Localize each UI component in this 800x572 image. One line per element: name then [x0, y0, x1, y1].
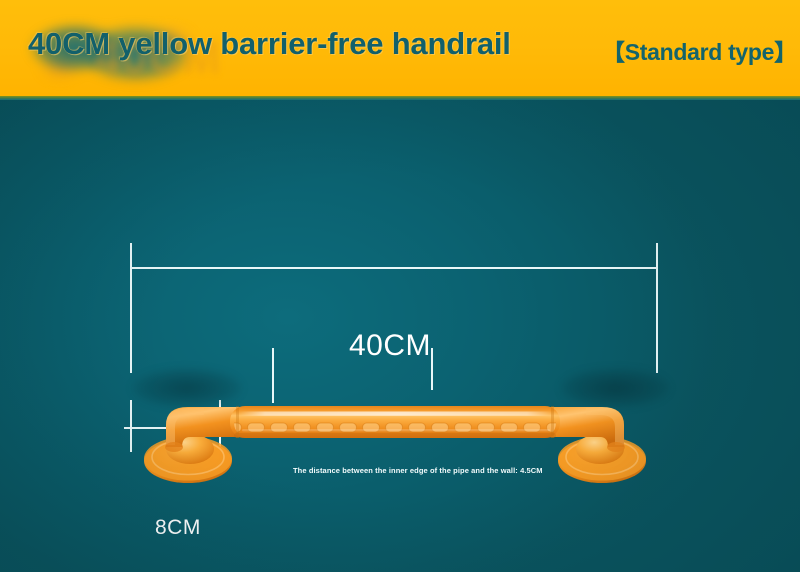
header-banner: 40CM 40CM yellow barrier-free handrail 【…	[0, 0, 800, 96]
clearance-callout-tick-right	[431, 348, 433, 390]
product-image: 40CM 40CM yellow barrier-free handrail 【…	[0, 0, 800, 572]
product-photo-stage: 40CM 8CM The distance between the inner …	[0, 100, 800, 572]
dimension-label-depth: 8CM	[155, 516, 201, 540]
handrail-product	[130, 385, 660, 500]
dimension-label-length: 40CM	[349, 329, 431, 363]
banner-title: 40CM yellow barrier-free handrail	[28, 26, 511, 62]
banner-subtitle: 【Standard type】	[602, 33, 797, 67]
dimension-line-length	[130, 267, 658, 269]
dimension-extension-line-right	[656, 243, 658, 373]
dimension-extension-line-left	[130, 243, 132, 373]
